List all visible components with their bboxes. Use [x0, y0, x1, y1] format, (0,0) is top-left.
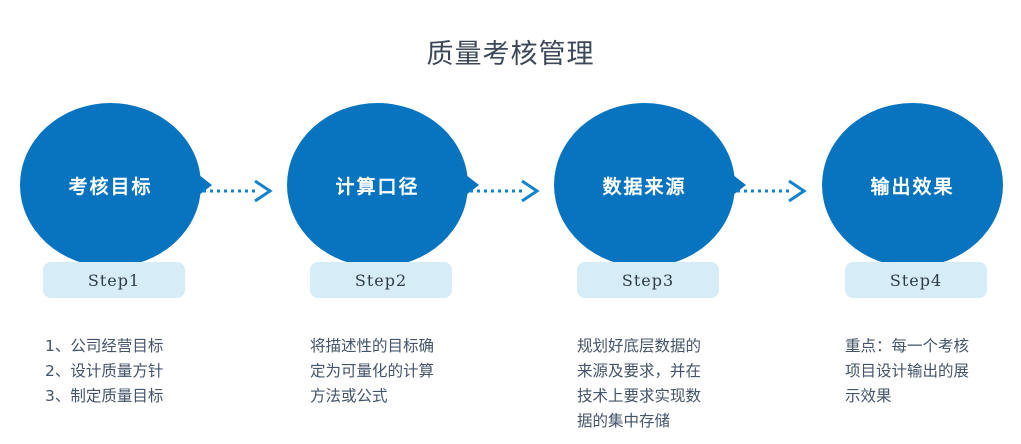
- dotted-arrow-right-icon: [468, 178, 540, 204]
- step-group: 计算口径Step2将描述性的目标确 定为可量化的计算 方法或公式: [267, 0, 535, 444]
- step-description: 1、公司经营目标 2、设计质量方针 3、制定质量目标: [45, 334, 229, 409]
- step-group: 数据来源Step3规划好底层数据的 来源及要求，并在 技术上要求实现数 据的集中…: [534, 0, 802, 444]
- step-number-chip[interactable]: Step3: [577, 262, 719, 298]
- step-number-chip[interactable]: Step2: [310, 262, 452, 298]
- process-flow-diagram: 考核目标Step11、公司经营目标 2、设计质量方针 3、制定质量目标计算口径S…: [0, 0, 1021, 444]
- step-bubble[interactable]: [802, 103, 1021, 271]
- step-number-chip[interactable]: Step4: [845, 262, 987, 298]
- step-description: 规划好底层数据的 来源及要求，并在 技术上要求实现数 据的集中存储: [577, 334, 761, 434]
- step-number-chip[interactable]: Step1: [43, 262, 185, 298]
- step-group: 输出效果Step4重点：每一个考核 项目设计输出的展 示效果: [802, 0, 1021, 444]
- step-description: 将描述性的目标确 定为可量化的计算 方法或公式: [310, 334, 494, 409]
- step-description: 重点：每一个考核 项目设计输出的展 示效果: [845, 334, 1021, 409]
- dotted-arrow-right-icon: [735, 178, 807, 204]
- dotted-arrow-right-icon: [201, 178, 273, 204]
- step-group: 考核目标Step11、公司经营目标 2、设计质量方针 3、制定质量目标: [0, 0, 268, 444]
